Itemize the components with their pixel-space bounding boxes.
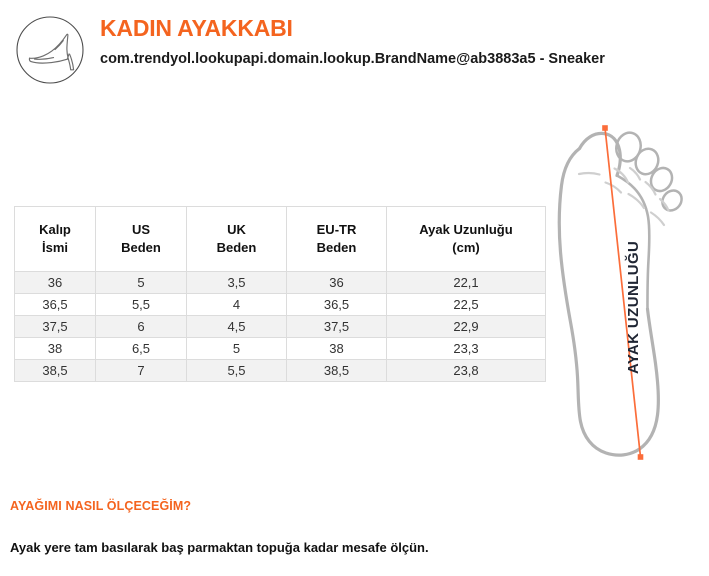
cell-eu-tr-beden: 36 bbox=[287, 272, 387, 294]
header-line-1: EU-TR bbox=[317, 222, 357, 237]
cell-us-beden: 6 bbox=[96, 316, 187, 338]
foot-sole-diagram: AYAK UZUNLUĞU bbox=[548, 112, 698, 477]
page-title: KADIN AYAKKABI bbox=[100, 14, 700, 42]
table-header-uk-beden: UK Beden bbox=[187, 207, 287, 272]
toes-icon bbox=[613, 130, 686, 215]
size-chart-table-head: Kalıp İsmi US Beden UK Beden EU-TR Beden… bbox=[15, 207, 546, 272]
table-header-kalip-ismi: Kalıp İsmi bbox=[15, 207, 96, 272]
header-line-2: Beden bbox=[98, 239, 184, 257]
header-line-2: (cm) bbox=[389, 239, 543, 257]
cell-ayak-uzunlugu: 22,9 bbox=[387, 316, 546, 338]
table-row: 36 5 3,5 36 22,1 bbox=[15, 272, 546, 294]
how-to-measure-body: Ayak yere tam basılarak baş parmaktan to… bbox=[10, 539, 610, 557]
cell-uk-beden: 3,5 bbox=[187, 272, 287, 294]
table-row: 38,5 7 5,5 38,5 23,8 bbox=[15, 360, 546, 382]
header-line-1: US bbox=[132, 222, 150, 237]
cell-eu-tr-beden: 38,5 bbox=[287, 360, 387, 382]
how-to-measure-heading: AYAĞIMI NASIL ÖLÇECEĞİM? bbox=[10, 498, 610, 514]
header-line-2: İsmi bbox=[17, 239, 93, 257]
table-header-eu-tr-beden: EU-TR Beden bbox=[287, 207, 387, 272]
cell-eu-tr-beden: 38 bbox=[287, 338, 387, 360]
foot-outline-icon bbox=[559, 133, 658, 455]
cell-ayak-uzunlugu: 23,8 bbox=[387, 360, 546, 382]
header-text-block: KADIN AYAKKABI com.trendyol.lookupapi.do… bbox=[100, 14, 700, 70]
cell-ayak-uzunlugu: 22,1 bbox=[387, 272, 546, 294]
foot-length-label: AYAK UZUNLUĞU bbox=[624, 241, 642, 374]
cell-uk-beden: 5,5 bbox=[187, 360, 287, 382]
high-heel-shoe-icon bbox=[14, 14, 86, 86]
how-to-measure-section: AYAĞIMI NASIL ÖLÇECEĞİM? Ayak yere tam b… bbox=[10, 498, 610, 557]
cell-kalip-ismi: 36 bbox=[15, 272, 96, 294]
cell-uk-beden: 5 bbox=[187, 338, 287, 360]
header-line-2: Beden bbox=[289, 239, 384, 257]
cell-eu-tr-beden: 36,5 bbox=[287, 294, 387, 316]
page-subtitle: com.trendyol.lookupapi.domain.lookup.Bra… bbox=[100, 49, 645, 70]
cell-us-beden: 7 bbox=[96, 360, 187, 382]
header-line-1: Ayak Uzunluğu bbox=[419, 222, 512, 237]
header-line-1: UK bbox=[227, 222, 246, 237]
cell-uk-beden: 4 bbox=[187, 294, 287, 316]
table-header-us-beden: US Beden bbox=[96, 207, 187, 272]
table-header-ayak-uzunlugu: Ayak Uzunluğu (cm) bbox=[387, 207, 546, 272]
cell-ayak-uzunlugu: 22,5 bbox=[387, 294, 546, 316]
size-chart-table-body: 36 5 3,5 36 22,1 36,5 5,5 4 36,5 22,5 37… bbox=[15, 272, 546, 382]
cell-kalip-ismi: 38,5 bbox=[15, 360, 96, 382]
cell-kalip-ismi: 37,5 bbox=[15, 316, 96, 338]
header-line-2: Beden bbox=[189, 239, 284, 257]
cell-kalip-ismi: 36,5 bbox=[15, 294, 96, 316]
cell-uk-beden: 4,5 bbox=[187, 316, 287, 338]
table-row: 37,5 6 4,5 37,5 22,9 bbox=[15, 316, 546, 338]
size-chart-table-container: Kalıp İsmi US Beden UK Beden EU-TR Beden… bbox=[14, 206, 545, 382]
cell-us-beden: 5,5 bbox=[96, 294, 187, 316]
cell-ayak-uzunlugu: 23,3 bbox=[387, 338, 546, 360]
size-chart-table: Kalıp İsmi US Beden UK Beden EU-TR Beden… bbox=[14, 206, 546, 382]
table-header-row: Kalıp İsmi US Beden UK Beden EU-TR Beden… bbox=[15, 207, 546, 272]
cell-eu-tr-beden: 37,5 bbox=[287, 316, 387, 338]
cell-us-beden: 6,5 bbox=[96, 338, 187, 360]
table-row: 36,5 5,5 4 36,5 22,5 bbox=[15, 294, 546, 316]
table-row: 38 6,5 5 38 23,3 bbox=[15, 338, 546, 360]
cell-us-beden: 5 bbox=[96, 272, 187, 294]
page-header: KADIN AYAKKABI com.trendyol.lookupapi.do… bbox=[0, 0, 709, 110]
header-line-1: Kalıp bbox=[39, 222, 71, 237]
cell-kalip-ismi: 38 bbox=[15, 338, 96, 360]
